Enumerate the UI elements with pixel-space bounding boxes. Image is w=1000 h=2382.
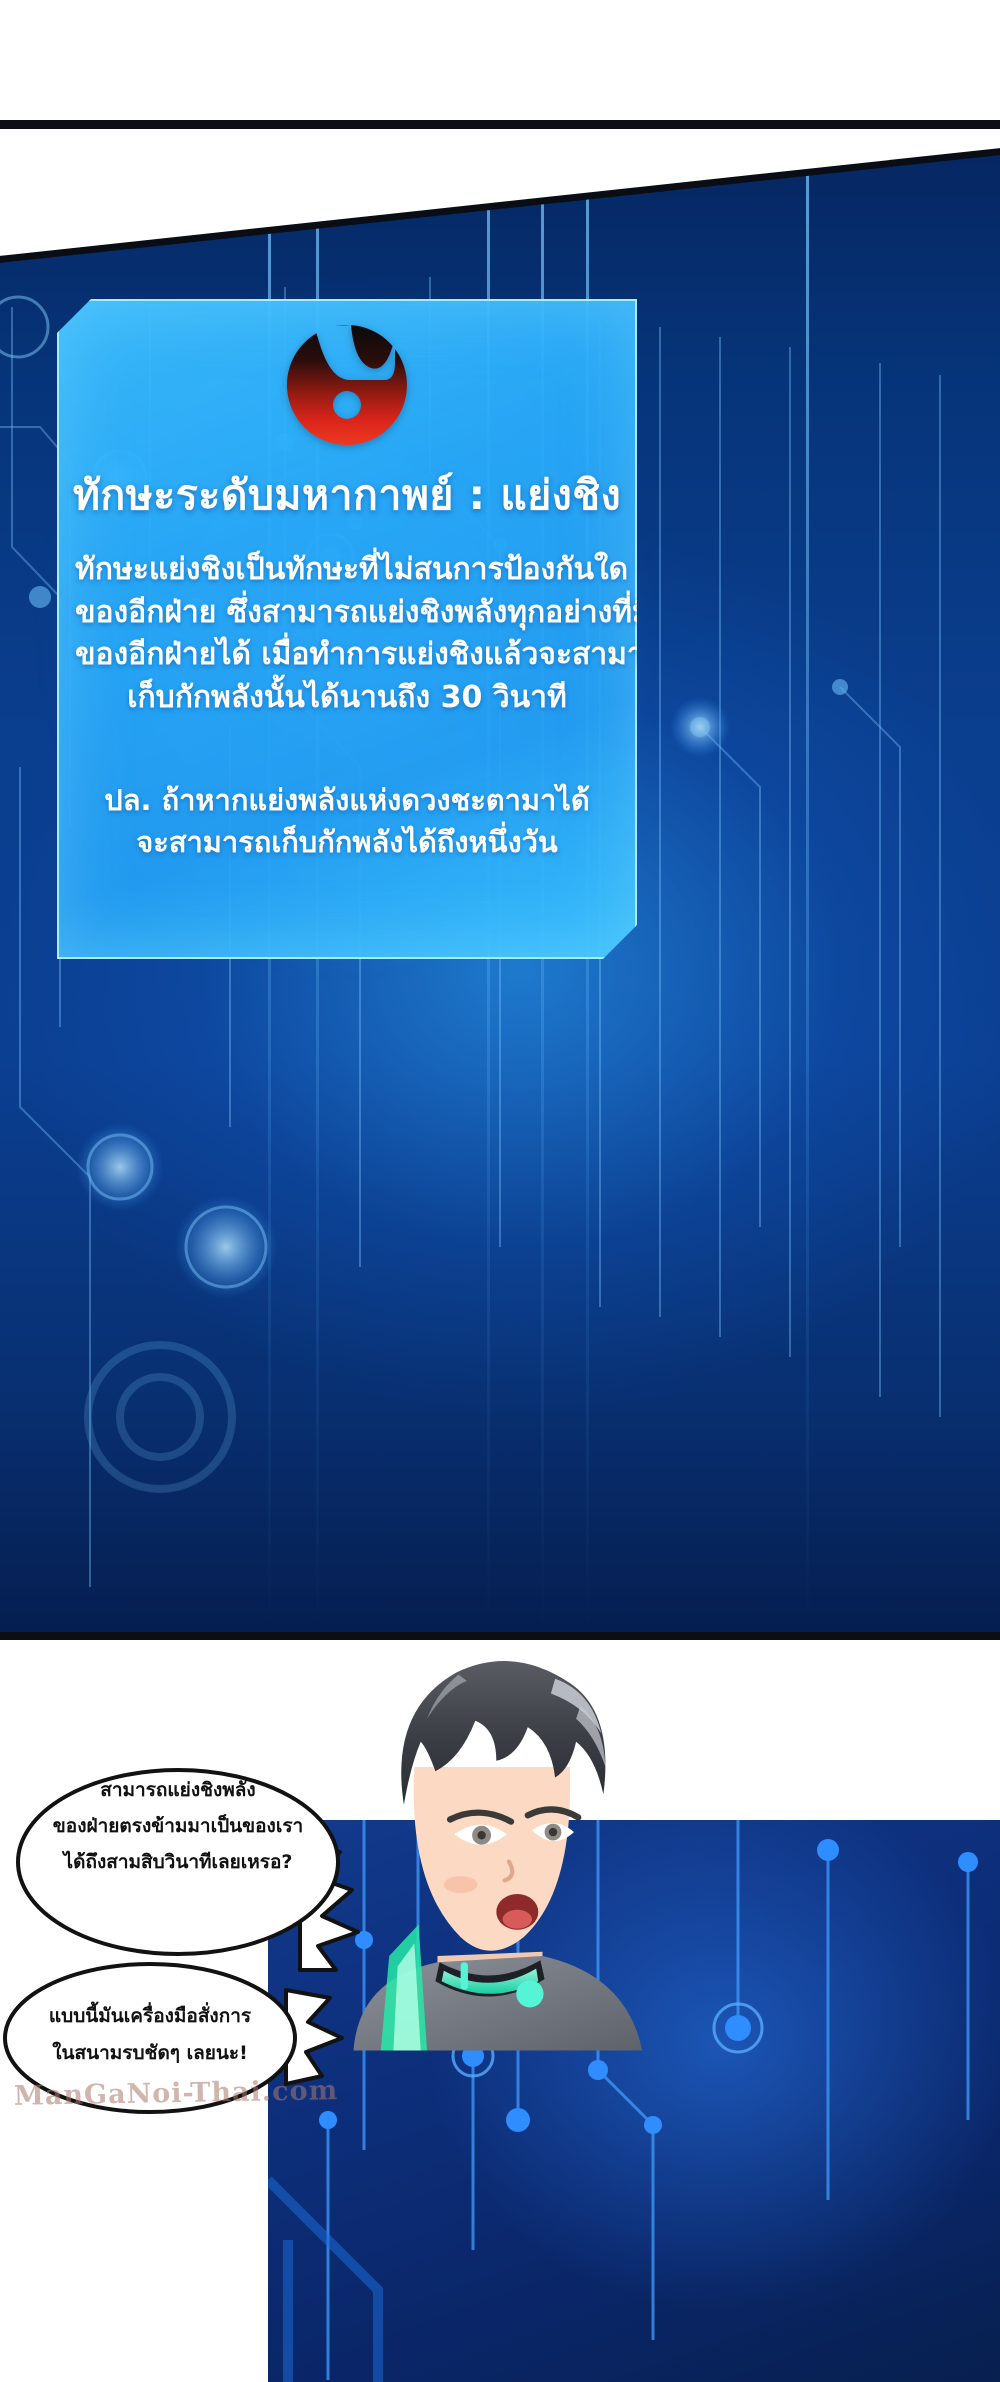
webtoon-page: ทักษะระดับมหากาพย์ : แย่งชิง ทักษะแย่งชิ…	[0, 0, 1000, 2382]
crescent-claw-emblem-icon	[285, 323, 409, 447]
skill-note-line: ปล. ถ้าหากแย่งพลังแห่งดวงชะตามาได้	[75, 779, 619, 821]
skill-note-line: จะสามารถเก็บกักพลังได้ถึงหนึ่งวัน	[75, 821, 619, 863]
panel-separator-middle	[0, 1632, 1000, 1640]
skill-description-line: ของอีกฝ่าย ซึ่งสามารถแย่งชิงพลังทุกอย่าง…	[75, 592, 619, 635]
skill-note: ปล. ถ้าหากแย่งพลังแห่งดวงชะตามาได้ จะสาม…	[75, 779, 619, 863]
skill-description: ทักษะแย่งชิงเป็นทักษะที่ไม่สนการป้องกันใ…	[75, 549, 619, 719]
skill-description-line: ทักษะแย่งชิงเป็นทักษะที่ไม่สนการป้องกันใ…	[75, 549, 619, 592]
speech-bubble-2-line: ในสนามรบชัดๆ เลยนะ!	[10, 2035, 290, 2072]
speech-bubble-1-line: ได้ถึงสามสิบวินาทีเลยเหรอ?	[18, 1844, 338, 1880]
speech-bubble-1-text: สามารถแย่งชิงพลัง ของฝ่ายตรงข้ามมาเป็นขอ…	[18, 1772, 338, 1880]
speech-bubble-2-line: แบบนี้มันเครื่องมือสั่งการ	[10, 1998, 290, 2035]
panel-separator-top	[0, 120, 1000, 129]
skill-description-line: เก็บกักพลังนั้นได้นานถึง 30 วินาที	[75, 677, 619, 720]
character-young-man	[280, 1640, 700, 2060]
speech-bubble-1-line: สามารถแย่งชิงพลัง	[18, 1772, 338, 1808]
speech-bubble-1-line: ของฝ่ายตรงข้ามมาเป็นของเรา	[18, 1808, 338, 1844]
skill-description-line: ของอีกฝ่ายได้ เมื่อทำการแย่งชิงแล้วจะสาม…	[75, 634, 619, 677]
site-watermark-overlay: ManGaNoi-Thai.com	[14, 2075, 339, 2112]
skill-info-box: ทักษะระดับมหากาพย์ : แย่งชิง ทักษะแย่งชิ…	[57, 299, 637, 959]
speech-bubble-2-text: แบบนี้มันเครื่องมือสั่งการ ในสนามรบชัดๆ …	[10, 1998, 290, 2072]
light-beam	[806, 127, 809, 1632]
emblem-container	[59, 323, 635, 447]
skill-title: ทักษะระดับมหากาพย์ : แย่งชิง	[59, 473, 635, 518]
skill-window-panel: ทักษะระดับมหากาพย์ : แย่งชิง ทักษะแย่งชิ…	[0, 127, 1000, 1632]
